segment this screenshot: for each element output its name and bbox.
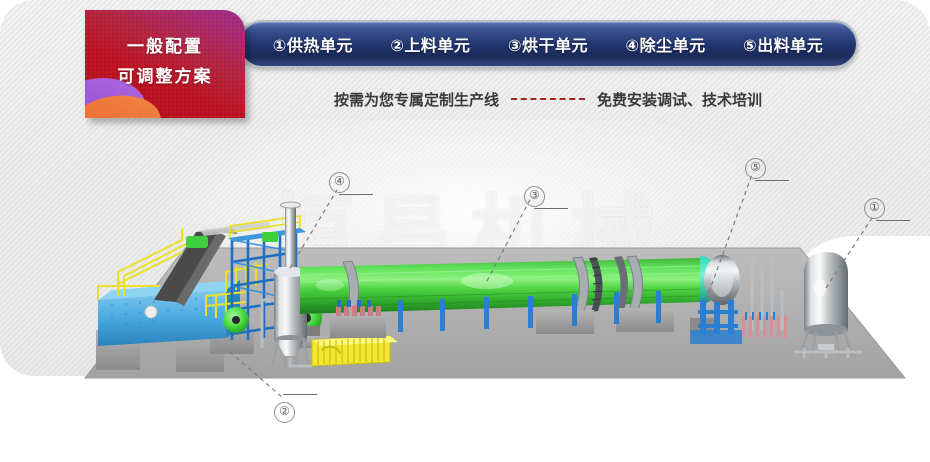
nav-item-dust-removal-unit[interactable]: ④除尘单元	[626, 32, 706, 56]
furnace-tank	[804, 252, 848, 330]
marker-2: ②	[274, 398, 295, 423]
nav-item-heating-unit[interactable]: ①供热单元	[273, 32, 353, 56]
marker-1: ①	[864, 198, 885, 219]
unit-nav-bar: ①供热单元 ②上料单元 ③烘干单元 ④除尘单元 ⑤出料单元	[238, 20, 858, 68]
subtitle-right-text: 免费安装调试、技术培训	[597, 89, 762, 110]
screenshot-root: 恒昌机械	[0, 0, 930, 462]
marker-2-circle: ②	[274, 402, 295, 423]
nav-item-discharge-unit[interactable]: ⑤出料单元	[743, 32, 823, 56]
marker-5-circle: ⑤	[745, 158, 766, 179]
subtitle-left-text: 按需为您专属定制生产线	[334, 89, 499, 110]
config-banner: 一般配置 可调整方案	[85, 10, 245, 118]
yellow-cage	[312, 336, 398, 366]
nav-item-feeding-unit[interactable]: ②上料单元	[390, 32, 470, 56]
banner-line-1: 一般配置	[85, 32, 245, 62]
service-subtitle: 按需为您专属定制生产线 免费安装调试、技术培训	[238, 84, 858, 114]
subtitle-divider	[511, 98, 585, 100]
marker-4-circle: ④	[329, 172, 350, 193]
banner-line-2: 可调整方案	[85, 62, 245, 92]
marker-3-circle: ③	[524, 186, 545, 207]
marker-1-circle: ①	[864, 198, 885, 219]
marker-3: ③	[524, 186, 545, 207]
marker-4: ④	[329, 172, 350, 193]
nav-item-drying-unit[interactable]: ③烘干单元	[508, 32, 588, 56]
banner-text: 一般配置 可调整方案	[85, 32, 245, 92]
marker-5: ⑤	[745, 158, 766, 179]
